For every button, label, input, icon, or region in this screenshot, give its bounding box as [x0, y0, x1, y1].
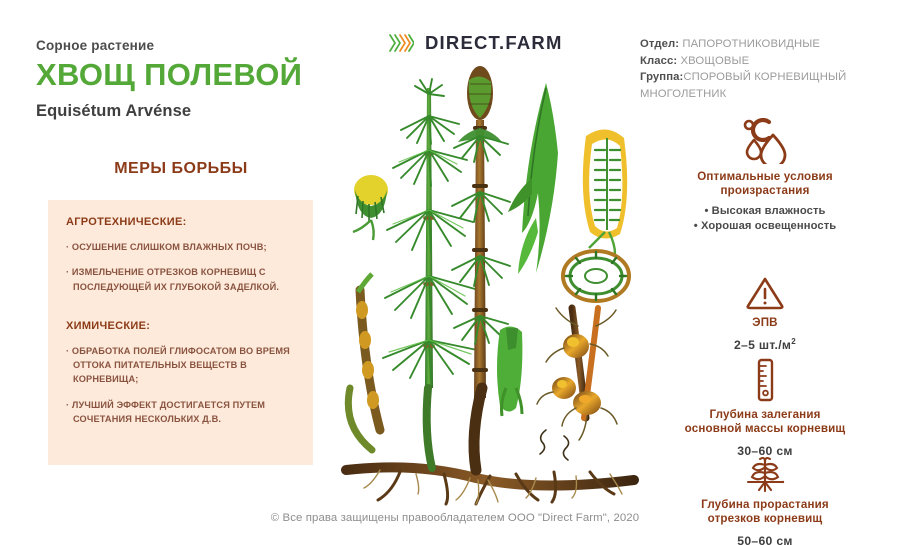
taxonomy-row-class: Класс: ХВОЩОВЫЕ — [640, 53, 890, 70]
illustration-rhizome-tubers — [537, 308, 617, 440]
warning-triangle-icon — [745, 276, 785, 310]
fact-title-line-2: основной массы корневищ — [685, 422, 846, 435]
illustration-cross-section — [563, 251, 629, 301]
kicker-label: Сорное растение — [36, 38, 336, 53]
fact-title: Глубина залегания основной массы корневи… — [640, 408, 890, 437]
illustration-blade-leaf — [508, 83, 558, 274]
taxonomy-label: Отдел: — [640, 38, 679, 50]
fact-rhizome-depth: Глубина залегания основной массы корневи… — [640, 358, 890, 458]
fact-value: 2–5 шт./м2 — [640, 337, 890, 352]
measures-item-text: ОСУШЕНИЕ СЛИШКОМ ВЛАЖНЫХ ПОЧВ; — [72, 242, 267, 252]
fact-value-text: 2–5 шт./м — [734, 339, 791, 353]
taxonomy-value: ХВОЩОВЫЕ — [677, 55, 749, 67]
measures-heading: МЕРЫ БОРЬБЫ — [36, 160, 326, 178]
ruler-icon — [753, 358, 777, 402]
fact-title-line-1: Глубина прорастания — [701, 498, 829, 511]
measures-item-text: ОБРАБОТКА ПОЛЕЙ ГЛИФОСАТОМ ВО ВРЕМЯ ОТТО… — [72, 346, 290, 385]
fact-germination-depth: Глубина прорастания отрезков корневищ 50… — [640, 456, 890, 545]
measures-panel: АГРОТЕХНИЧЕСКИЕ: · ОСУШЕНИЕ СЛИШКОМ ВЛАЖ… — [48, 200, 313, 465]
tuber — [573, 391, 601, 415]
fact-bullets: • Высокая влажность • Хорошая освещеннос… — [640, 204, 890, 234]
sprout-roots-icon — [742, 456, 788, 492]
measures-item: · ОБРАБОТКА ПОЛЕЙ ГЛИФОСАТОМ ВО ВРЕМЯ ОТ… — [66, 344, 295, 387]
fact-value-superscript: 2 — [791, 337, 796, 346]
temperature-humidity-icon — [739, 118, 791, 164]
fact-title: Оптимальные условия произрастания — [640, 170, 890, 199]
measures-item: · ИЗМЕЛЬЧЕНИЕ ОТРЕЗКОВ КОРНЕВИЩ С ПОСЛЕД… — [66, 265, 295, 294]
measures-item: · ЛУЧШИЙ ЭФФЕКТ ДОСТИГАЕТСЯ ПУТЕМ СОЧЕТА… — [66, 398, 295, 427]
fact-bullet-humidity: • Высокая влажность — [704, 205, 825, 217]
measures-item-text: ИЗМЕЛЬЧЕНИЕ ОТРЕЗКОВ КОРНЕВИЩ С ПОСЛЕДУЮ… — [72, 267, 279, 291]
chevrons-logo-icon — [388, 32, 414, 54]
measures-group-title-chem: ХИМИЧЕСКИЕ: — [66, 320, 295, 332]
brand-logo[interactable]: DIRECT.FARM — [388, 32, 563, 54]
page-title: ХВОЩ ПОЛЕВОЙ — [36, 59, 336, 92]
poster-canvas: Сорное растение ХВОЩ ПОЛЕВОЙ Equisétum A… — [0, 0, 910, 545]
logo-text: DIRECT.FARM — [425, 32, 563, 54]
latin-name-label: Equisétum Arvénse — [36, 102, 336, 121]
taxonomy-row-division: Отдел: ПАПОРОТНИКОВИДНЫЕ — [640, 36, 890, 53]
measures-group-title-agro: АГРОТЕХНИЧЕСКИЕ: — [66, 216, 295, 228]
illustration-green-segment — [497, 326, 522, 416]
equisetum-botanical-illustration — [340, 58, 640, 508]
illustration-spore-head — [353, 175, 388, 240]
taxonomy-label: Группа: — [640, 71, 683, 83]
fact-title-line-1: Оптимальные условия — [697, 170, 833, 183]
taxonomy-value: ПАПОРОТНИКОВИДНЫЕ — [679, 38, 820, 50]
tuber — [552, 377, 576, 399]
fact-value: 50–60 см — [640, 534, 890, 545]
fact-epv: ЭПВ 2–5 шт./м2 — [640, 276, 890, 353]
facts-column: Отдел: ПАПОРОТНИКОВИДНЫЕ Класс: ХВОЩОВЫЕ… — [640, 36, 890, 103]
measures-item: · ОСУШЕНИЕ СЛИШКОМ ВЛАЖНЫХ ПОЧВ; — [66, 240, 295, 254]
fact-title-line-2: произрастания — [720, 184, 809, 197]
illustration-strobilus-section — [583, 129, 627, 254]
illustration-column: DIRECT.FARM — [340, 20, 640, 510]
fact-optimal-conditions: Оптимальные условия произрастания • Высо… — [640, 118, 890, 234]
fact-bullet-light: • Хорошая освещенность — [694, 220, 837, 232]
illustration-sprouting-branch — [348, 274, 380, 450]
tuber — [563, 334, 589, 358]
title-block: Сорное растение ХВОЩ ПОЛЕВОЙ Equisétum A… — [36, 38, 336, 121]
fact-title: ЭПВ — [640, 316, 890, 330]
taxonomy-block: Отдел: ПАПОРОТНИКОВИДНЫЕ Класс: ХВОЩОВЫЕ… — [640, 36, 890, 103]
copyright-footer: © Все права защищены правообладателем ОО… — [0, 512, 910, 524]
taxonomy-row-group: Группа:СПОРОВЫЙ КОРНЕВИЩНЫЙ МНОГОЛЕТНИК — [640, 69, 890, 102]
illustration-vegetative-shoot — [383, 79, 477, 388]
fact-title-line-1: Глубина залегания — [709, 408, 820, 421]
taxonomy-label: Класс: — [640, 55, 677, 67]
measures-item-text: ЛУЧШИЙ ЭФФЕКТ ДОСТИГАЕТСЯ ПУТЕМ СОЧЕТАНИ… — [72, 400, 265, 424]
